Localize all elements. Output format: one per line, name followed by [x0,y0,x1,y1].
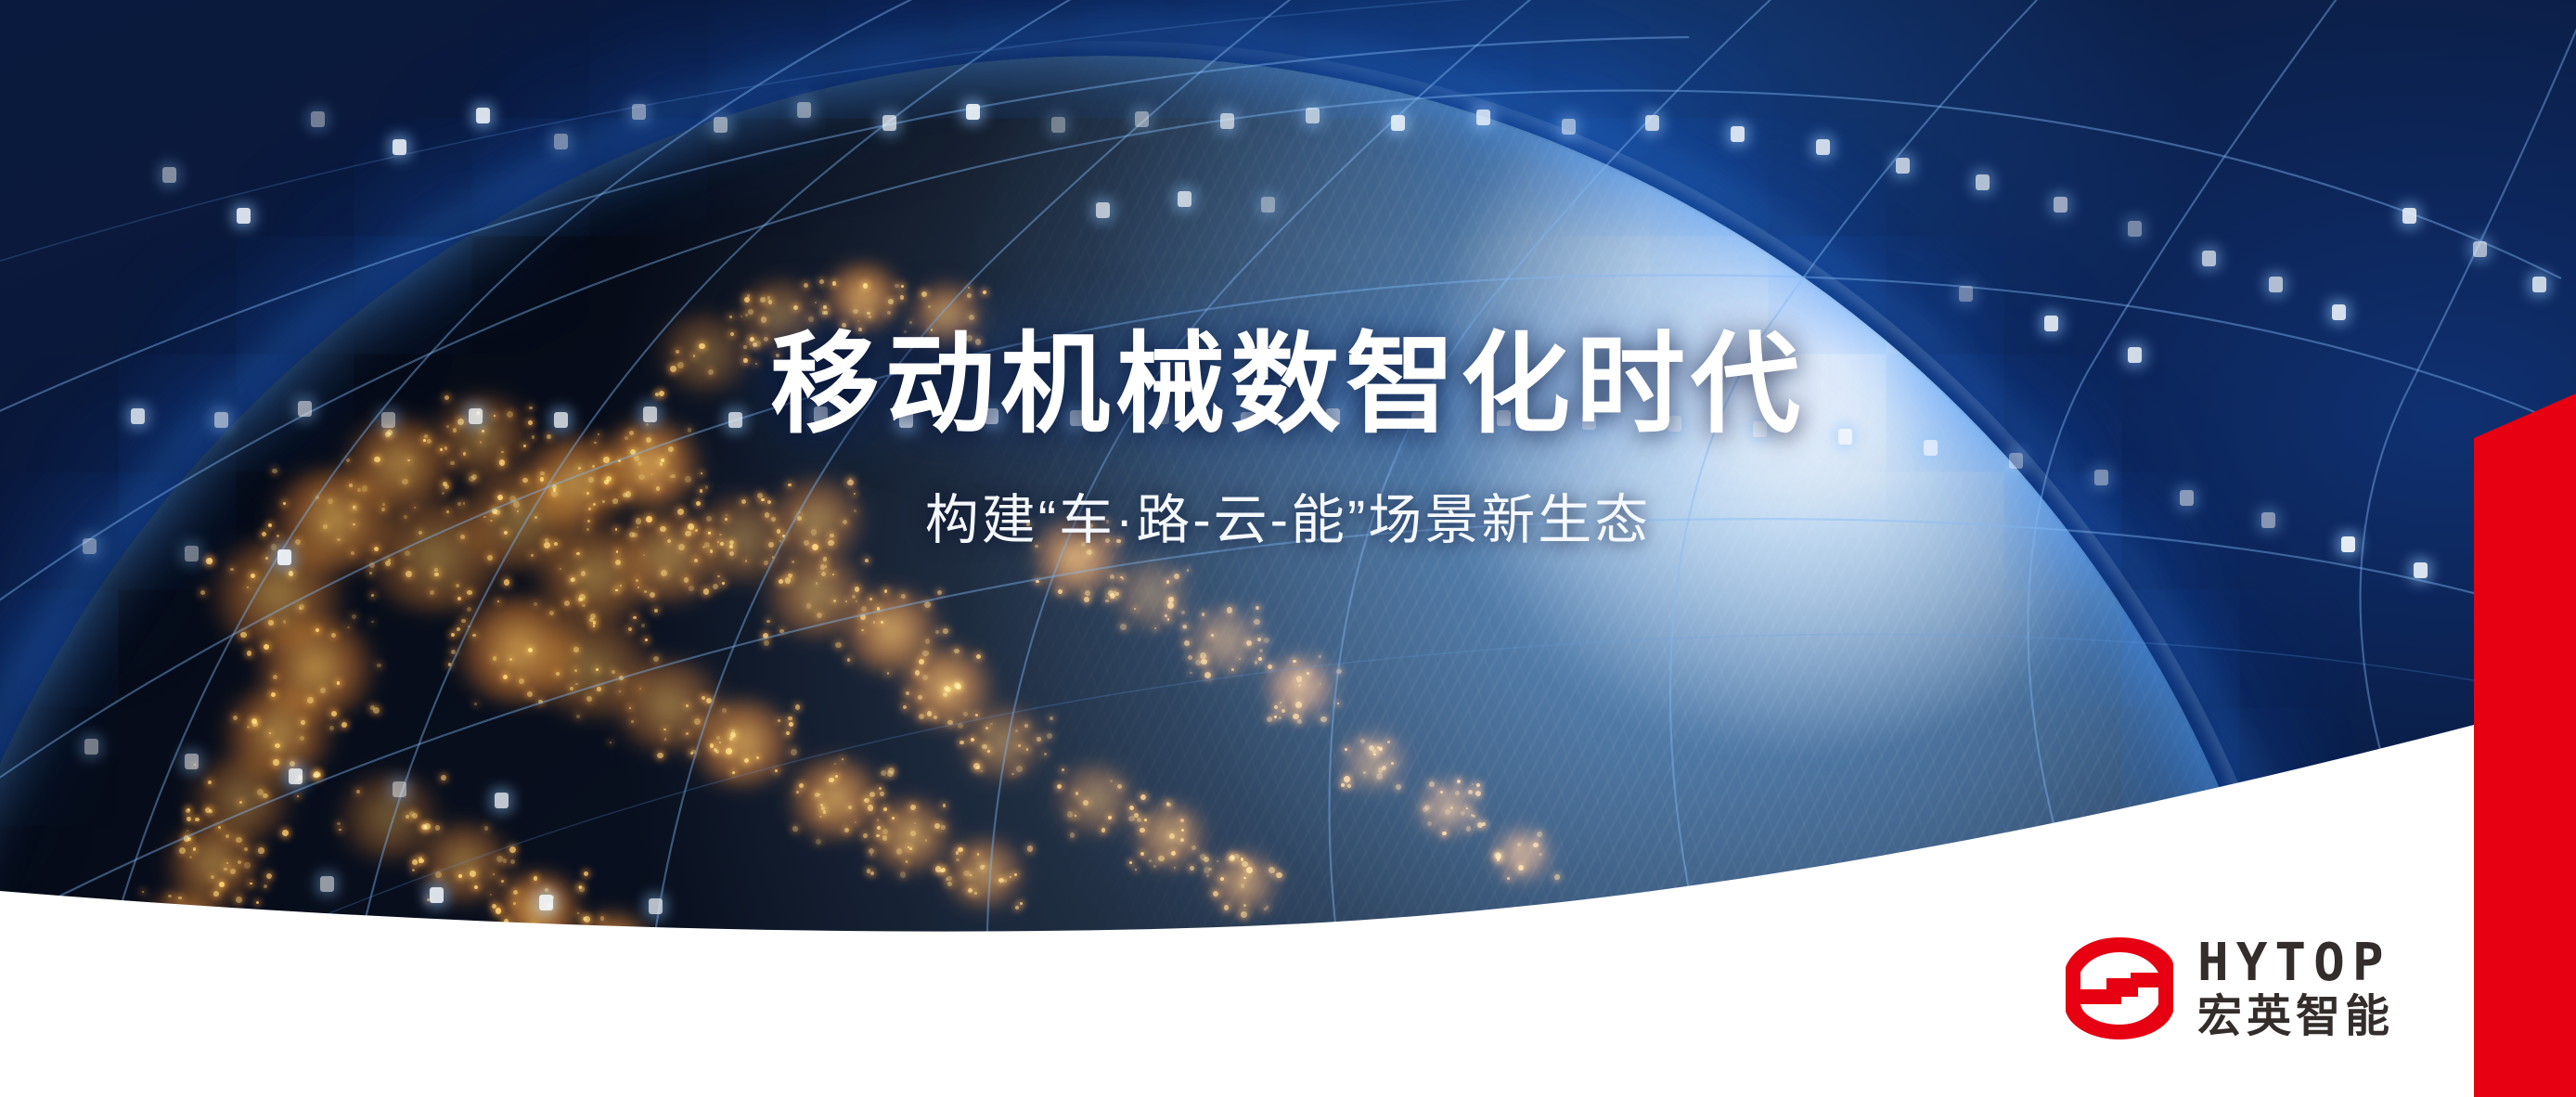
hytop-g-mark [2066,936,2173,1041]
logo-chinese-name: 宏英智能 [2197,995,2394,1039]
title-slide: 移动机械数智化时代 构建“车·路-云-能”场景新生态 HYTOP 宏英智能 [0,0,2576,1097]
logo-wordmark: HYTOP 宏英智能 [2197,937,2394,1039]
brand-logo: HYTOP 宏英智能 [2066,936,2394,1041]
logo-english-name: HYTOP [2197,937,2394,989]
